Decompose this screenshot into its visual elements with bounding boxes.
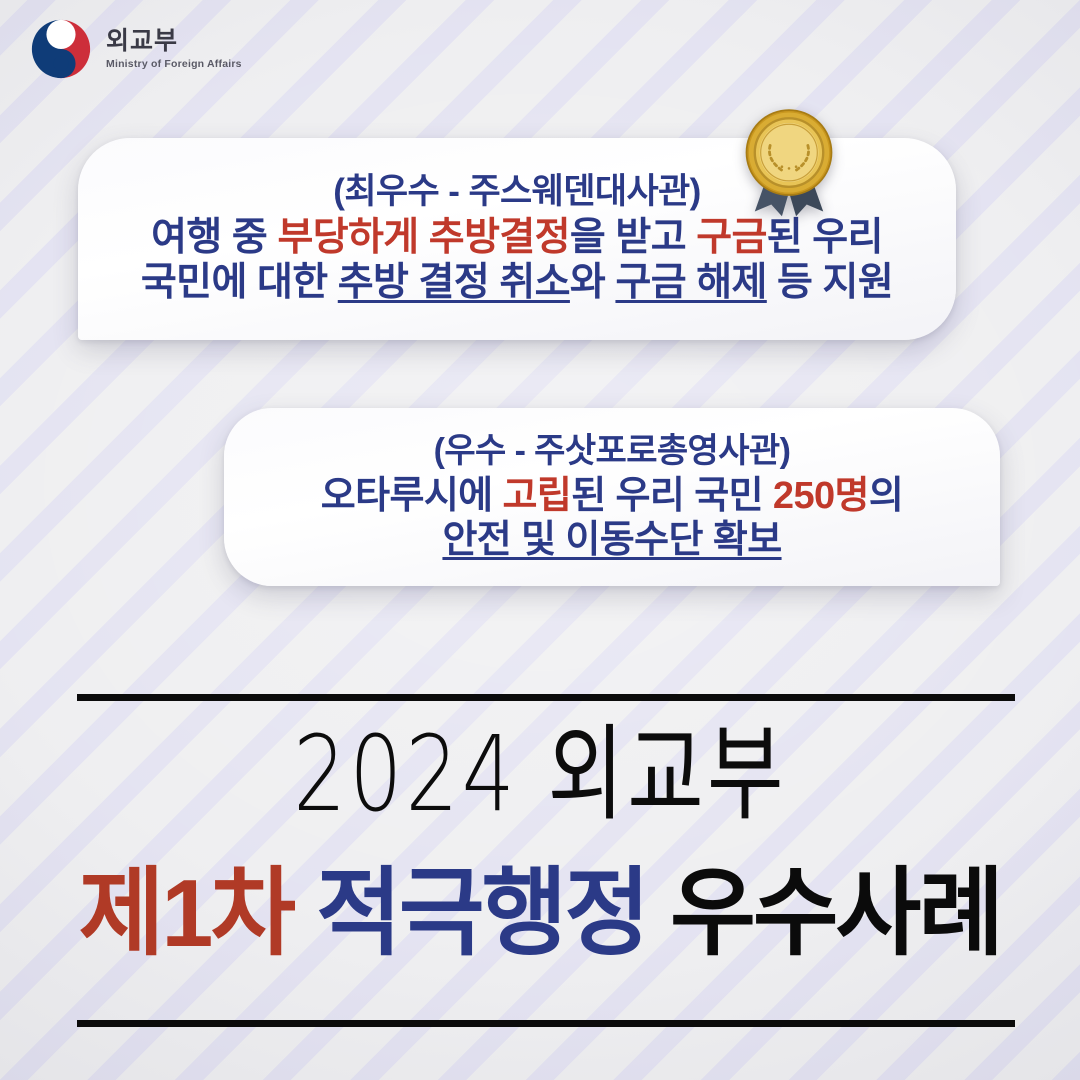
card-2-heading: (우수 - 주삿포로총영사관): [434, 432, 791, 471]
seg-red: 부당하게 추방결정: [277, 216, 569, 259]
seg: 등 지원: [767, 261, 893, 304]
gold-medal-icon: [730, 103, 848, 221]
headline-part-2: 적극행정: [316, 860, 647, 967]
ministry-logo: 외교부 Ministry of Foreign Affairs: [30, 18, 242, 80]
card-2-line-3: 안전 및 이동수단 확보: [442, 518, 781, 562]
seg: 국민에 대한: [141, 261, 338, 304]
card-1-line-2: 여행 중 부당하게 추방결정을 받고 구금된 우리: [151, 215, 883, 260]
taegeuk-icon: [30, 18, 92, 80]
logo-name-en: Ministry of Foreign Affairs: [106, 59, 242, 70]
main-headline: 제1차 적극행정 우수사례: [16, 866, 1064, 962]
seg: 된 우리: [767, 216, 883, 259]
seg-underline: 추방 결정 취소: [338, 261, 570, 304]
year-title: 2024 외교부: [108, 722, 972, 826]
divider-bottom: [77, 1020, 1015, 1027]
logo-name-ko: 외교부: [106, 29, 242, 54]
seg: 여행 중: [151, 216, 277, 259]
seg: 된 우리 국민: [571, 475, 773, 517]
card-2-line-2: 오타루시에 고립된 우리 국민 250명의: [321, 474, 904, 518]
poster-canvas: 외교부 Ministry of Foreign Affairs (최우수 - 주…: [0, 0, 1080, 1080]
seg: 의: [869, 475, 903, 517]
headline-part-3: 우수사례: [670, 860, 1001, 967]
seg-red: 고립: [503, 475, 572, 517]
seg-red: 250명: [773, 475, 869, 517]
headline-part-1: 제1차: [79, 860, 293, 967]
seg-red: 구금: [696, 216, 767, 259]
card-1-line-3: 국민에 대한 추방 결정 취소와 구금 해제 등 지원: [141, 260, 893, 305]
seg-underline: 안전 및 이동수단 확보: [442, 519, 781, 561]
seg: 오타루시에: [321, 475, 503, 517]
seg-underline: 구금 해제: [615, 261, 766, 304]
seg: 와: [570, 261, 616, 304]
seg: 을 받고: [570, 216, 696, 259]
award-card-2: (우수 - 주삿포로총영사관) 오타루시에 고립된 우리 국민 250명의 안전…: [224, 408, 1000, 586]
card-1-heading: (최우수 - 주스웨덴대사관): [333, 172, 700, 213]
divider-top: [77, 694, 1015, 701]
